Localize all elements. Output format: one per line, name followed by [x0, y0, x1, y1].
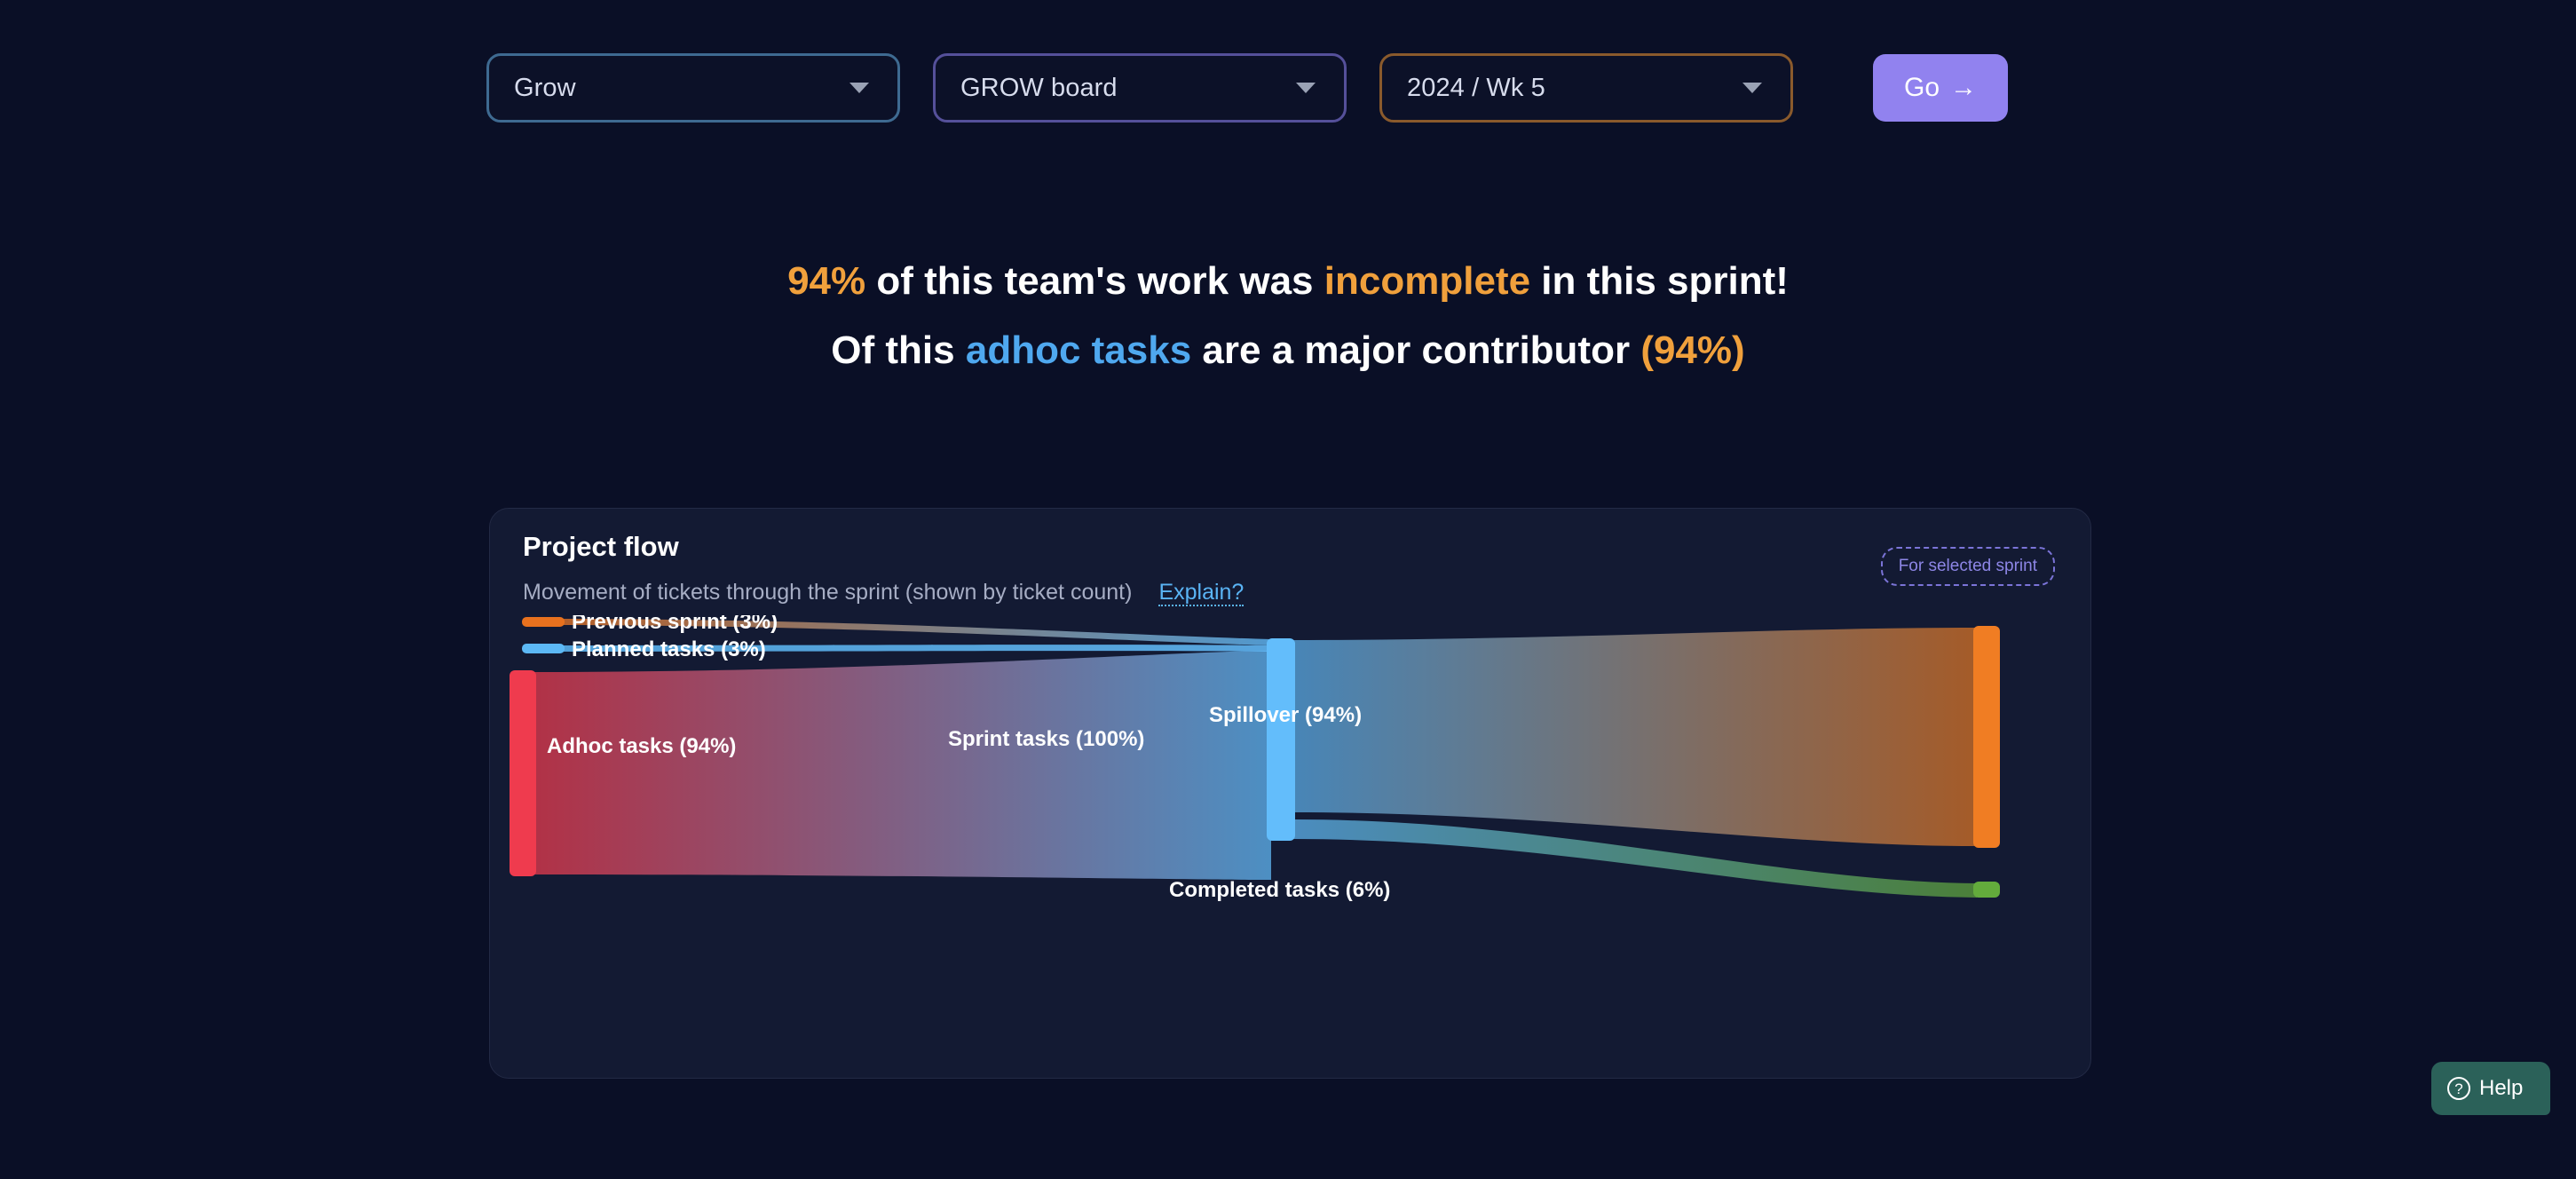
chevron-down-icon — [1742, 83, 1762, 93]
arrow-right-icon: → — [1950, 73, 1977, 103]
go-button[interactable]: Go → — [1873, 54, 2008, 122]
headline-line2-lead: Of this — [831, 328, 966, 372]
card-subtitle: Movement of tickets through the sprint (… — [523, 580, 1244, 605]
help-label: Help — [2479, 1076, 2523, 1101]
sprint-select-value: 2024 / Wk 5 — [1407, 74, 1545, 103]
sprint-select[interactable]: 2024 / Wk 5 — [1379, 53, 1793, 123]
headline-line1-mid: of this team's work was — [865, 259, 1324, 303]
label-adhoc-tasks: Adhoc tasks (94%) — [547, 734, 736, 758]
flow-adhoc-to-sprint — [534, 651, 1271, 880]
board-select-value: GROW board — [960, 74, 1118, 103]
headline-line1-tail: in this sprint! — [1530, 259, 1789, 303]
node-adhoc-tasks[interactable] — [510, 670, 536, 876]
headline-incomplete: incomplete — [1324, 259, 1530, 303]
chevron-down-icon — [849, 83, 869, 93]
sankey-diagram: Previous sprint (3%) Planned tasks (3%) … — [490, 615, 2092, 1068]
label-sprint-tasks: Sprint tasks (100%) — [948, 727, 1144, 751]
label-spillover: Spillover (94%) — [1209, 703, 1362, 727]
project-select-value: Grow — [514, 74, 576, 103]
board-select[interactable]: GROW board — [933, 53, 1347, 123]
filter-bar: Grow GROW board 2024 / Wk 5 Go → — [486, 53, 2008, 123]
explain-link[interactable]: Explain? — [1158, 580, 1244, 606]
label-completed-tasks: Completed tasks (6%) — [1169, 878, 1390, 902]
headline-line2-mid: are a major contributor — [1191, 328, 1640, 372]
card-subtitle-text: Movement of tickets through the sprint (… — [523, 580, 1132, 605]
question-circle-icon: ? — [2447, 1077, 2470, 1100]
project-flow-card: Project flow Movement of tickets through… — [489, 508, 2091, 1079]
label-planned-tasks: Planned tasks (3%) — [572, 637, 766, 661]
node-completed-tasks[interactable] — [1973, 882, 2000, 898]
node-planned-tasks[interactable] — [522, 644, 565, 653]
headline-percent: 94% — [787, 259, 865, 303]
status-badge: For selected sprint — [1881, 547, 2055, 586]
project-select[interactable]: Grow — [486, 53, 900, 123]
chevron-down-icon — [1296, 83, 1316, 93]
node-previous-sprint[interactable] — [522, 617, 565, 627]
node-spillover[interactable] — [1973, 626, 2000, 848]
headline-contributor-percent: (94%) — [1640, 328, 1744, 372]
go-button-label: Go — [1904, 73, 1940, 103]
flow-sprint-to-spillover — [1293, 628, 1977, 846]
headline-line-2: Of this adhoc tasks are a major contribu… — [0, 331, 2576, 370]
node-sprint-tasks[interactable] — [1267, 638, 1295, 841]
headline-adhoc-tasks: adhoc tasks — [966, 328, 1191, 372]
help-widget[interactable]: ? Help — [2431, 1062, 2550, 1115]
label-previous-sprint: Previous sprint (3%) — [572, 615, 778, 634]
headline-block: 94% of this team's work was incomplete i… — [0, 262, 2576, 370]
headline-line-1: 94% of this team's work was incomplete i… — [0, 262, 2576, 301]
card-title: Project flow — [523, 531, 679, 563]
